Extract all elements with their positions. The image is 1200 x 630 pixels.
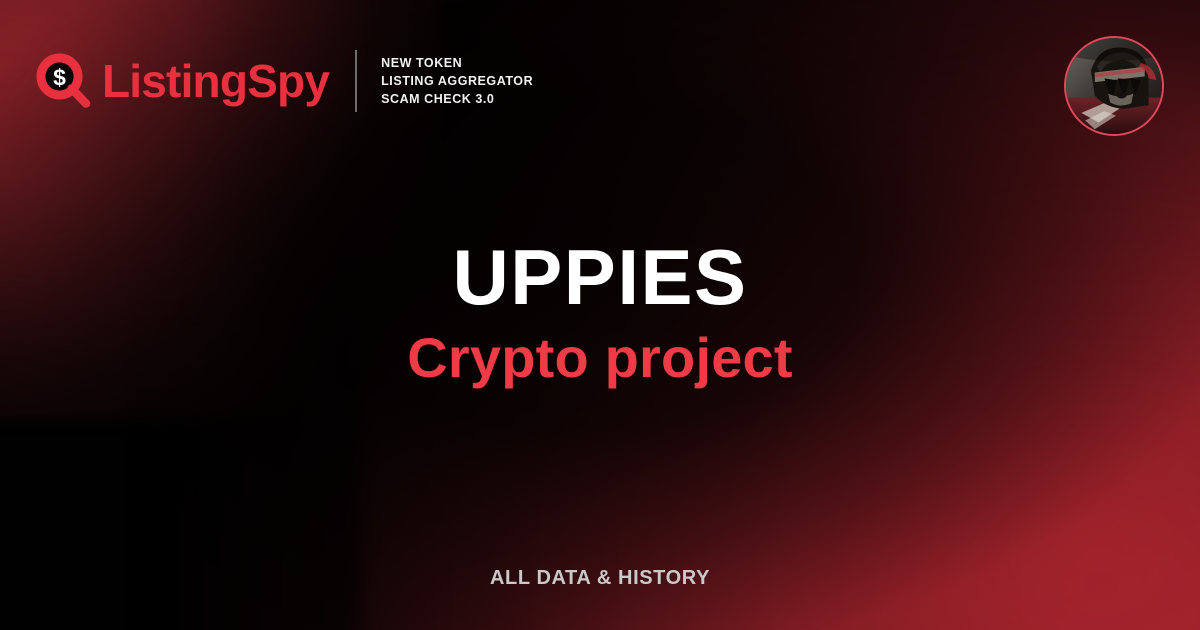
tagline-line-2: LISTING AGGREGATOR [381,73,533,89]
listingspy-token-banner: $ ListingSpy NEW TOKEN LISTING AGGREGATO… [0,0,1200,630]
tagline-line-1: NEW TOKEN [381,55,533,71]
tagline-line-3: SCAM CHECK 3.0 [381,91,533,107]
brand-header: $ ListingSpy NEW TOKEN LISTING AGGREGATO… [36,50,533,112]
brand-tagline: NEW TOKEN LISTING AGGREGATOR SCAM CHECK … [381,55,533,107]
header-divider [355,50,357,112]
svg-text:$: $ [53,65,66,91]
token-name: UPPIES [0,236,1200,319]
magnifier-dollar-icon: $ [36,53,92,109]
footer-text: ALL DATA & HISTORY [490,567,710,589]
token-headline-block: UPPIES Crypto project [0,236,1200,388]
brand-logo-lockup[interactable]: $ ListingSpy [36,53,329,109]
brand-wordmark: ListingSpy [102,58,329,104]
avatar[interactable] [1064,36,1164,136]
token-avatar-image [1066,38,1162,134]
token-subtitle: Crypto project [0,327,1200,389]
footer: ALL DATA & HISTORY [0,567,1200,590]
